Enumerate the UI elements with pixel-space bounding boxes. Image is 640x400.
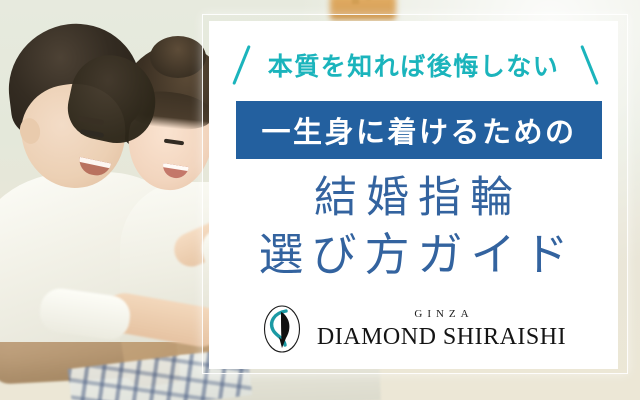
banner-image: 本質を知れば後悔しない 一生身に着けるための 結婚指輪 選び方ガイド GINZA…: [0, 0, 640, 400]
highlight-banner: 一生身に着けるための: [236, 101, 602, 159]
brand-supertitle: GINZA: [409, 309, 473, 320]
highlight-banner-text: 一生身に着けるための: [261, 109, 576, 151]
title-line-1: 結婚指輪: [209, 172, 618, 226]
woman-hair-bun: [150, 36, 206, 78]
brand-logo: GINZA DIAMOND SHIRAISHI: [209, 303, 618, 355]
brand-wordmark: GINZA DIAMOND SHIRAISHI: [317, 309, 566, 349]
brand-name: DIAMOND SHIRAISHI: [317, 325, 566, 349]
kicker-text: 本質を知れば後悔しない: [268, 47, 560, 83]
title-line-2: 選び方ガイド: [209, 226, 618, 284]
ginza-diamond-shiraishi-emblem-icon: [261, 304, 303, 354]
kicker-row: 本質を知れば後悔しない: [209, 46, 618, 84]
page-title: 結婚指輪 選び方ガイド: [209, 172, 618, 284]
